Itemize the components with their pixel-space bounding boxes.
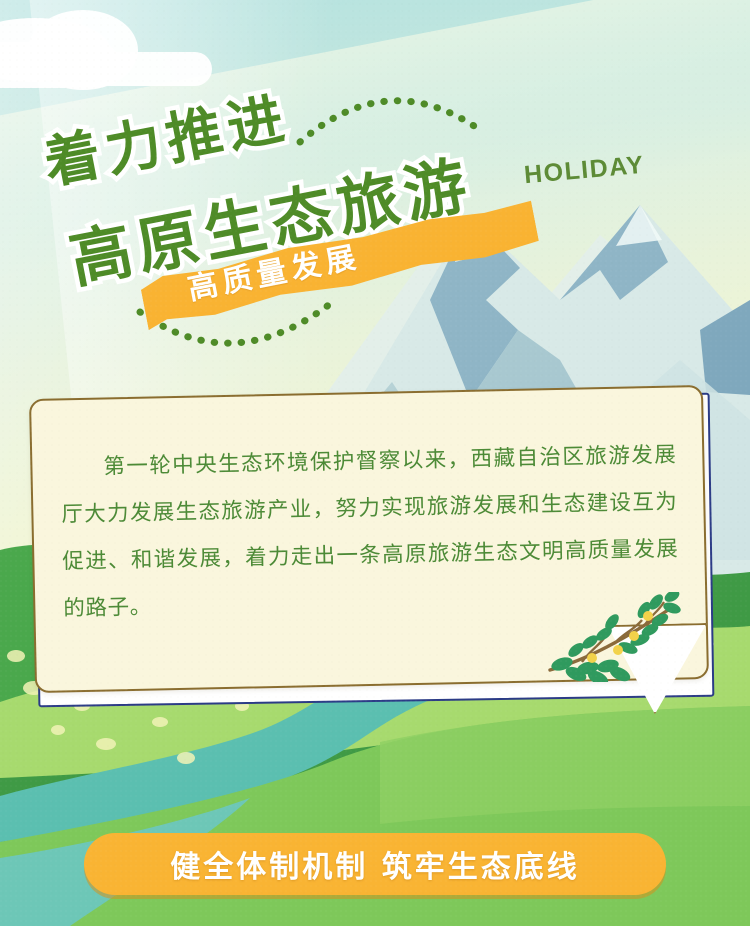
poster-root: 着力推进 高原生态旅游 HOLIDAY 高质量发展 第一轮中央生态环境保护督察以… xyxy=(0,0,750,926)
title-block: 着力推进 高原生态旅游 HOLIDAY 高质量发展 xyxy=(0,0,750,360)
leaf-branch-icon xyxy=(546,592,684,682)
cta-label: 健全体制机制 筑牢生态底线 xyxy=(170,842,579,886)
title-english: HOLIDAY xyxy=(523,151,646,190)
cta-banner[interactable]: 健全体制机制 筑牢生态底线 xyxy=(84,833,666,895)
